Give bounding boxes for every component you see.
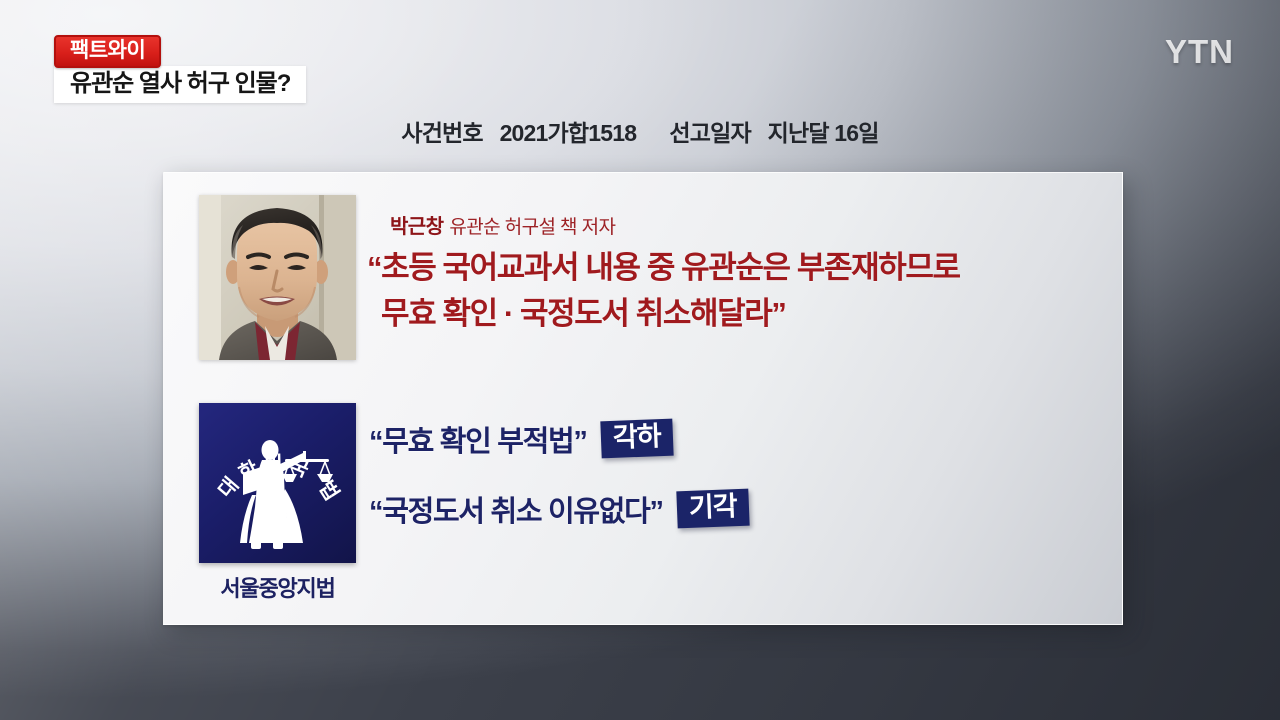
plaintiff-portrait-photo	[199, 195, 356, 360]
case-meta-line: 사건번호 2021가합1518 선고일자 지난달 16일	[0, 114, 1280, 148]
plaintiff-role: 유관순 허구설 책 저자	[449, 217, 615, 238]
ruling-text: “무효 확인 부적법”	[369, 418, 587, 460]
court-name-label: 서울중앙지법	[199, 571, 356, 603]
quote-line-1: “초등 국어교과서 내용 중 유관순은 부존재하므로	[367, 250, 960, 285]
case-number-label: 사건번호	[401, 120, 482, 146]
ruling-text: “국정도서 취소 이유없다”	[369, 488, 663, 530]
court-emblem-icon: 대한민국 법원	[199, 403, 356, 563]
headline-banner: 유관순 열사 허구 인물?	[54, 66, 306, 103]
case-number-value: 2021가합1518	[500, 120, 637, 146]
ytn-logo: YTN	[1165, 33, 1234, 71]
title-block: 팩트와이 유관순 열사 허구 인물?	[54, 35, 306, 103]
plaintiff-name: 박근창	[390, 216, 443, 238]
verdict-badge: 기각	[676, 489, 749, 529]
ruling-date-label: 선고일자	[669, 120, 750, 146]
quote-line-2: 무효 확인 · 국정도서 취소해달라”	[367, 291, 960, 337]
program-badge: 팩트와이	[54, 35, 161, 68]
content-panel: 박근창유관순 허구설 책 저자 “초등 국어교과서 내용 중 유관순은 부존재하…	[163, 172, 1123, 625]
verdict-badge: 각하	[600, 419, 673, 459]
broadcast-graphic-stage: 팩트와이 유관순 열사 허구 인물? YTN 사건번호 2021가합1518 선…	[0, 0, 1280, 720]
court-ruling-row: “국정도서 취소 이유없다” 기각	[369, 488, 748, 530]
plaintiff-quote: “초등 국어교과서 내용 중 유관순은 부존재하므로 무효 확인 · 국정도서 …	[367, 245, 960, 337]
ruling-date-value: 지난달 16일	[768, 120, 879, 146]
court-ruling-row: “무효 확인 부적법” 각하	[369, 418, 672, 460]
plaintiff-attribution: 박근창유관순 허구설 책 저자	[390, 210, 615, 239]
